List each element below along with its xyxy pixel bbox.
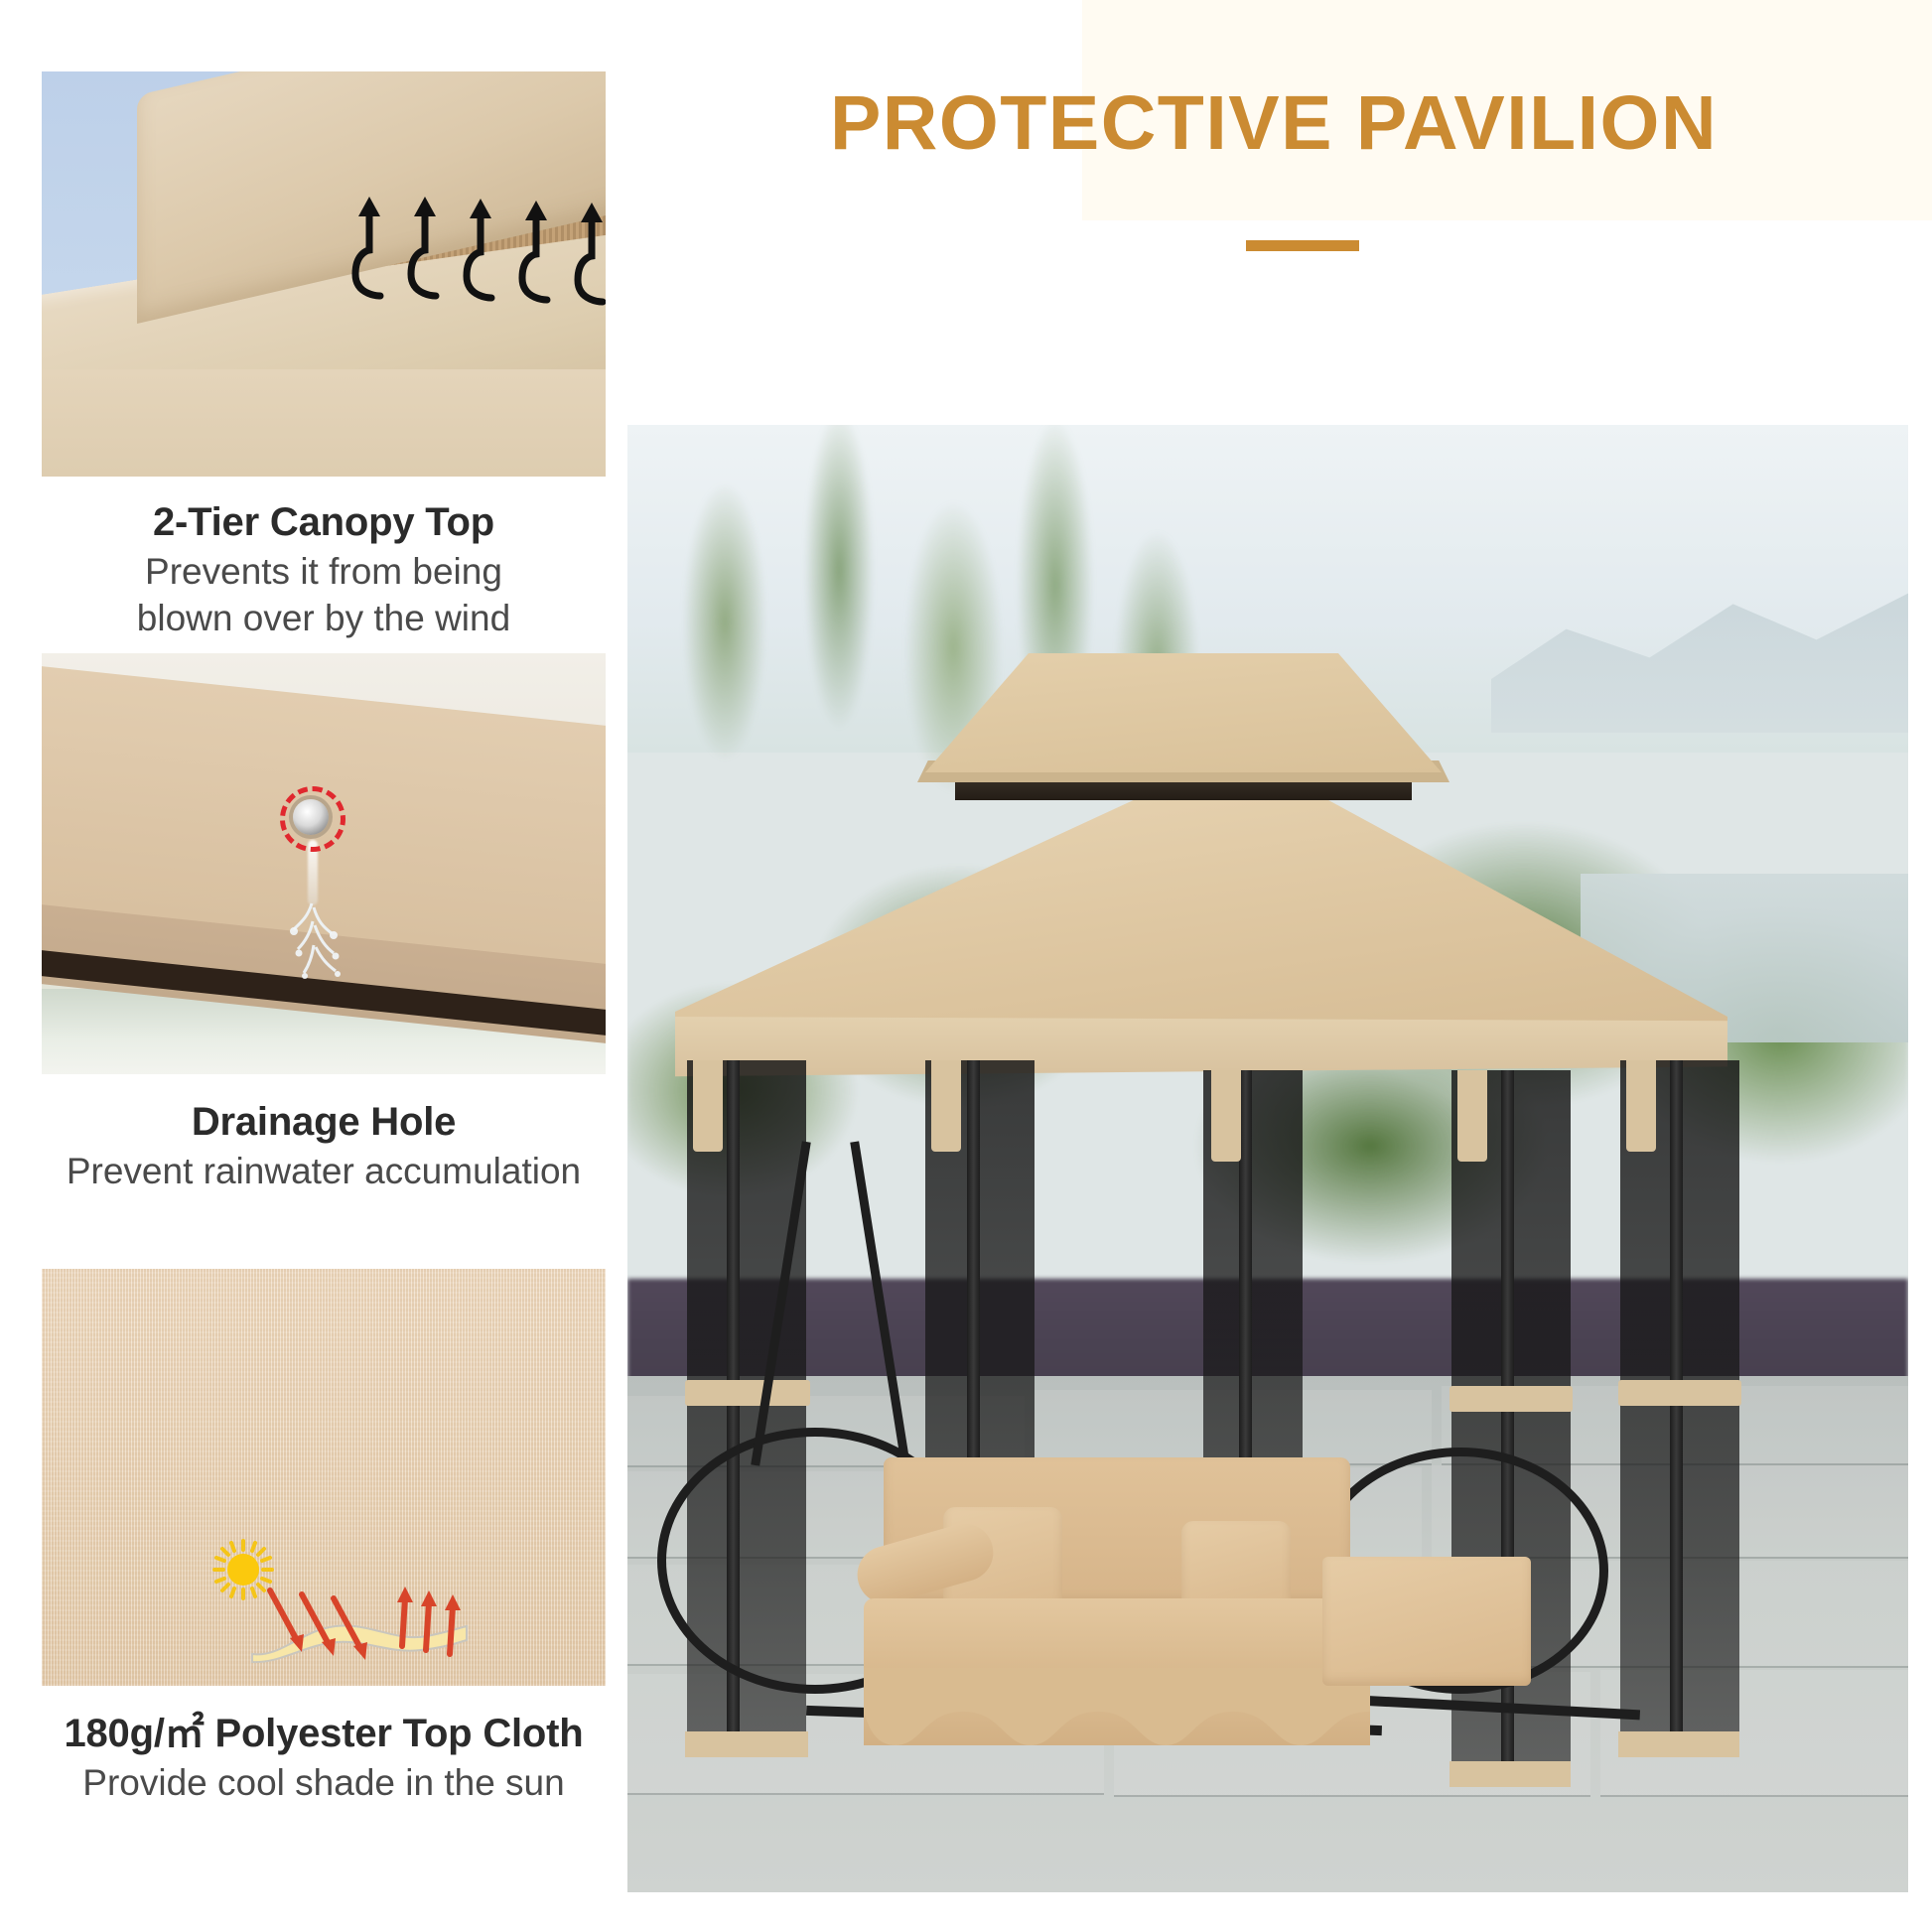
reflected-ray-up-arrow-icon xyxy=(439,1592,465,1663)
feature-title: 2-Tier Canopy Top xyxy=(42,498,606,548)
feature-subtitle-line: Prevent rainwater accumulation xyxy=(42,1148,606,1194)
feature-image-canopy xyxy=(42,71,606,477)
feature-subtitle-line: Provide cool shade in the sun xyxy=(42,1759,606,1806)
airflow-arrow-icon xyxy=(459,195,504,302)
feature-block-fabric: 180g/㎡ Polyester Top Cloth Provide cool … xyxy=(42,1269,606,1806)
curtain-valance-tab xyxy=(1457,1070,1487,1162)
curtain-valance-tab xyxy=(693,1060,723,1152)
curtain-tie-band xyxy=(1449,1386,1573,1412)
feature-caption-fabric: 180g/㎡ Polyester Top Cloth Provide cool … xyxy=(42,1686,606,1806)
curtain-valance-tab xyxy=(1626,1060,1656,1152)
gazebo-post xyxy=(1670,1060,1683,1755)
feature-image-fabric xyxy=(42,1269,606,1686)
airflow-arrow-icon xyxy=(514,197,560,304)
curtain-valance-tab xyxy=(1211,1070,1241,1162)
curtain-tie-band xyxy=(685,1380,810,1406)
main-product-photo xyxy=(627,425,1908,1892)
feature-caption-drainage: Drainage Hole Prevent rainwater accumula… xyxy=(42,1074,606,1194)
feature-block-drainage: Drainage Hole Prevent rainwater accumula… xyxy=(42,653,606,1194)
feature-image-drainage xyxy=(42,653,606,1074)
airflow-arrow-icon xyxy=(570,199,606,306)
curtain-tie-band xyxy=(1618,1380,1741,1406)
feature-subtitle-line: Prevents it from being xyxy=(42,548,606,595)
feature-subtitle: Prevent rainwater accumulation xyxy=(42,1148,606,1194)
feature-subtitle: Provide cool shade in the sun xyxy=(42,1759,606,1806)
reflected-ray-up-arrow-icon xyxy=(391,1585,417,1655)
feature-subtitle: Prevents it from being blown over by the… xyxy=(42,548,606,642)
sun-ray-down-arrow-icon xyxy=(328,1594,383,1671)
feature-caption-canopy: 2-Tier Canopy Top Prevents it from being… xyxy=(42,477,606,641)
feature-block-canopy: 2-Tier Canopy Top Prevents it from being… xyxy=(42,71,606,641)
curtain-valance-tab xyxy=(931,1060,961,1152)
page-title: PROTECTIVE PAVILION xyxy=(616,85,1932,162)
drainage-hole-highlight-circle xyxy=(280,786,345,852)
curtain-bottom-hem xyxy=(685,1731,808,1757)
title-accent-underline xyxy=(1246,240,1359,251)
feature-title: Drainage Hole xyxy=(42,1098,606,1148)
curtain-bottom-hem xyxy=(1449,1761,1571,1787)
feature-subtitle-line: blown over by the wind xyxy=(42,595,606,641)
swing-side-cushion xyxy=(1322,1557,1531,1686)
airflow-arrow-icon xyxy=(347,193,393,300)
curtain-bottom-hem xyxy=(1618,1731,1739,1757)
swing-seat-skirt xyxy=(864,1668,1370,1745)
feature-title: 180g/㎡ Polyester Top Cloth xyxy=(42,1710,606,1759)
airflow-arrow-icon xyxy=(403,193,449,300)
water-splash xyxy=(282,901,353,983)
reflected-ray-up-arrow-icon xyxy=(415,1588,441,1659)
canopy-lower-body xyxy=(42,369,606,477)
